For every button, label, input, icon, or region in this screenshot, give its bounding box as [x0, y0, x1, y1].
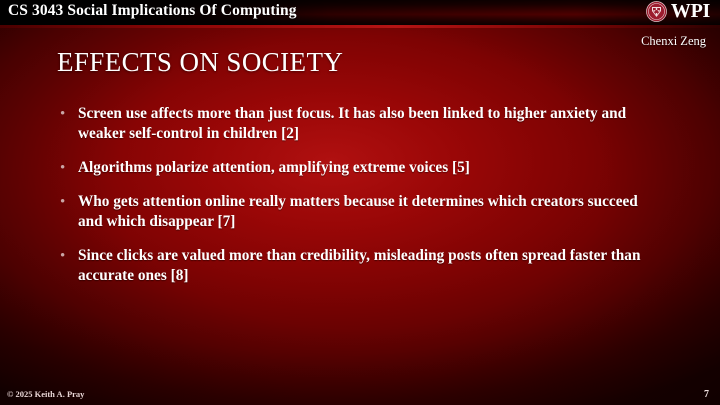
- wpi-logo: WPI: [646, 1, 710, 22]
- page-number: 7: [704, 389, 709, 400]
- list-item: • Since clicks are valued more than cred…: [57, 246, 657, 286]
- wpi-seal-icon: [646, 1, 667, 22]
- footer-copyright: © 2025 Keith A. Pray: [7, 389, 84, 399]
- presentation-slide: CS 3043 Social Implications Of Computing…: [0, 0, 720, 405]
- wpi-logo-text: WPI: [671, 1, 710, 22]
- list-item: • Algorithms polarize attention, amplify…: [57, 158, 657, 178]
- author-name: Chenxi Zeng: [641, 34, 706, 49]
- bullet-dot-icon: •: [57, 246, 78, 266]
- bullet-dot-icon: •: [57, 192, 78, 212]
- course-title: CS 3043 Social Implications Of Computing: [8, 2, 297, 20]
- bullet-text: Algorithms polarize attention, amplifyin…: [78, 158, 657, 178]
- slide-title: EFFECTS ON SOCIETY: [57, 47, 343, 78]
- header-accent-line: [0, 25, 720, 28]
- bullet-dot-icon: •: [57, 158, 78, 178]
- bullet-text: Screen use affects more than just focus.…: [78, 104, 657, 144]
- bullet-dot-icon: •: [57, 104, 78, 124]
- bullet-list: • Screen use affects more than just focu…: [57, 104, 657, 300]
- bullet-text: Who gets attention online really matters…: [78, 192, 657, 232]
- list-item: • Screen use affects more than just focu…: [57, 104, 657, 144]
- list-item: • Who gets attention online really matte…: [57, 192, 657, 232]
- bullet-text: Since clicks are valued more than credib…: [78, 246, 657, 286]
